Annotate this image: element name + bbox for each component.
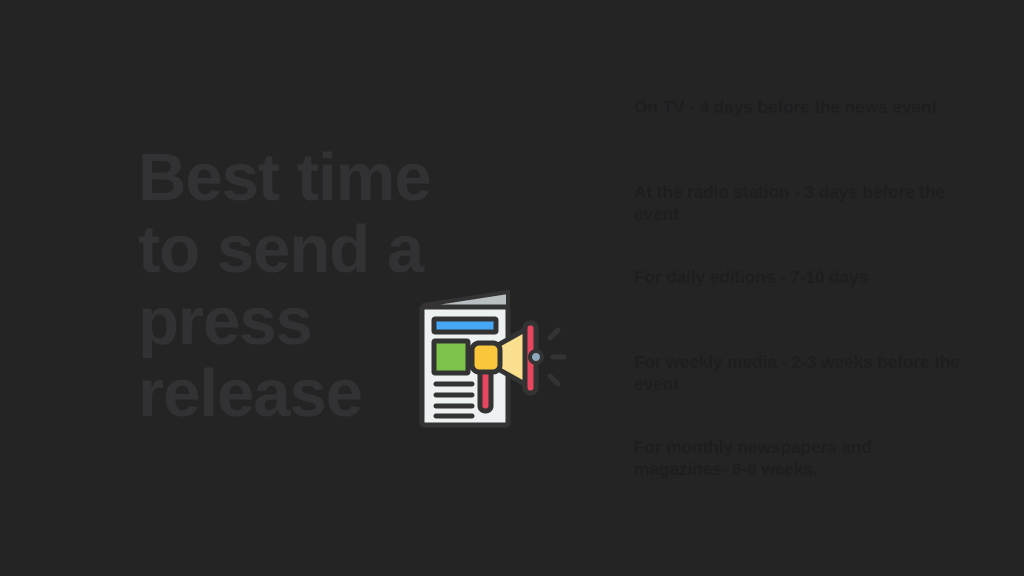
press-release-illustration [412,283,570,435]
sound-waves-icon [550,330,564,384]
newspaper-image-block-icon [434,341,468,373]
title-line-2: to send a [138,214,498,286]
list-item: At the radio station - 3 days before the… [634,181,964,266]
list-item: For daily editions - 7-10 days [634,266,964,351]
megaphone-body-icon [472,343,500,372]
newspaper-headline-bar-icon [434,319,496,332]
list-item: For monthly newspapers and magazines- 6-… [634,436,964,521]
timing-list: On TV - 4 days before the news event At … [634,96,964,521]
megaphone-knob-icon [530,351,542,363]
title-line-1: Best time [138,142,498,214]
list-item: On TV - 4 days before the news event [634,96,964,181]
slide-canvas: Best time to send a press release [0,0,1024,576]
list-item: For weekly media - 2-3 weeks before the … [634,351,964,436]
